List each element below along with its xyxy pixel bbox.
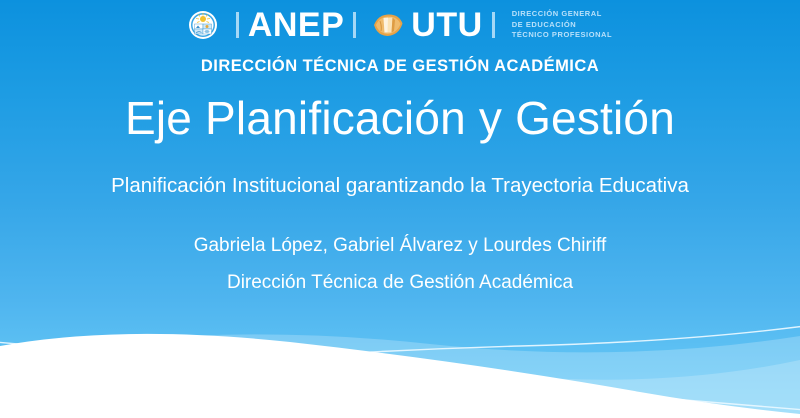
logo-divider-left	[236, 12, 239, 38]
org-line-3: TÉCNICO PROFESIONAL	[512, 30, 612, 41]
slide-subtitle: Planificación Institucional garantizando…	[0, 174, 800, 199]
page-title: Eje Planificación y Gestión	[0, 93, 800, 145]
logo-divider-right	[492, 12, 495, 38]
affiliation-line: Dirección Técnica de Gestión Académica	[0, 272, 800, 295]
utu-wordmark: UTU	[411, 8, 482, 42]
anep-coat-of-arms-emblem	[188, 10, 218, 40]
author-list: Gabriela López, Gabriel Álvarez y Lourde…	[0, 235, 800, 258]
logo-divider-middle	[353, 12, 356, 38]
anep-wordmark: ANEP	[248, 8, 344, 42]
organization-name-block: DIRECCIÓN GENERAL DE EDUCACIÓN TÉCNICO P…	[512, 9, 612, 41]
title-slide: ANEP UTU DIRECCIÓN GENERAL DE EDUCACIÓN …	[0, 0, 800, 418]
department-eyebrow: DIRECCIÓN TÉCNICA DE GESTIÓN ACADÉMICA	[0, 57, 800, 76]
wave-decoration	[0, 298, 800, 418]
utu-shield-emblem	[371, 10, 405, 40]
org-line-2: DE EDUCACIÓN	[512, 20, 612, 31]
org-line-1: DIRECCIÓN GENERAL	[512, 9, 612, 20]
institutional-logo-bar: ANEP UTU DIRECCIÓN GENERAL DE EDUCACIÓN …	[0, 4, 800, 46]
